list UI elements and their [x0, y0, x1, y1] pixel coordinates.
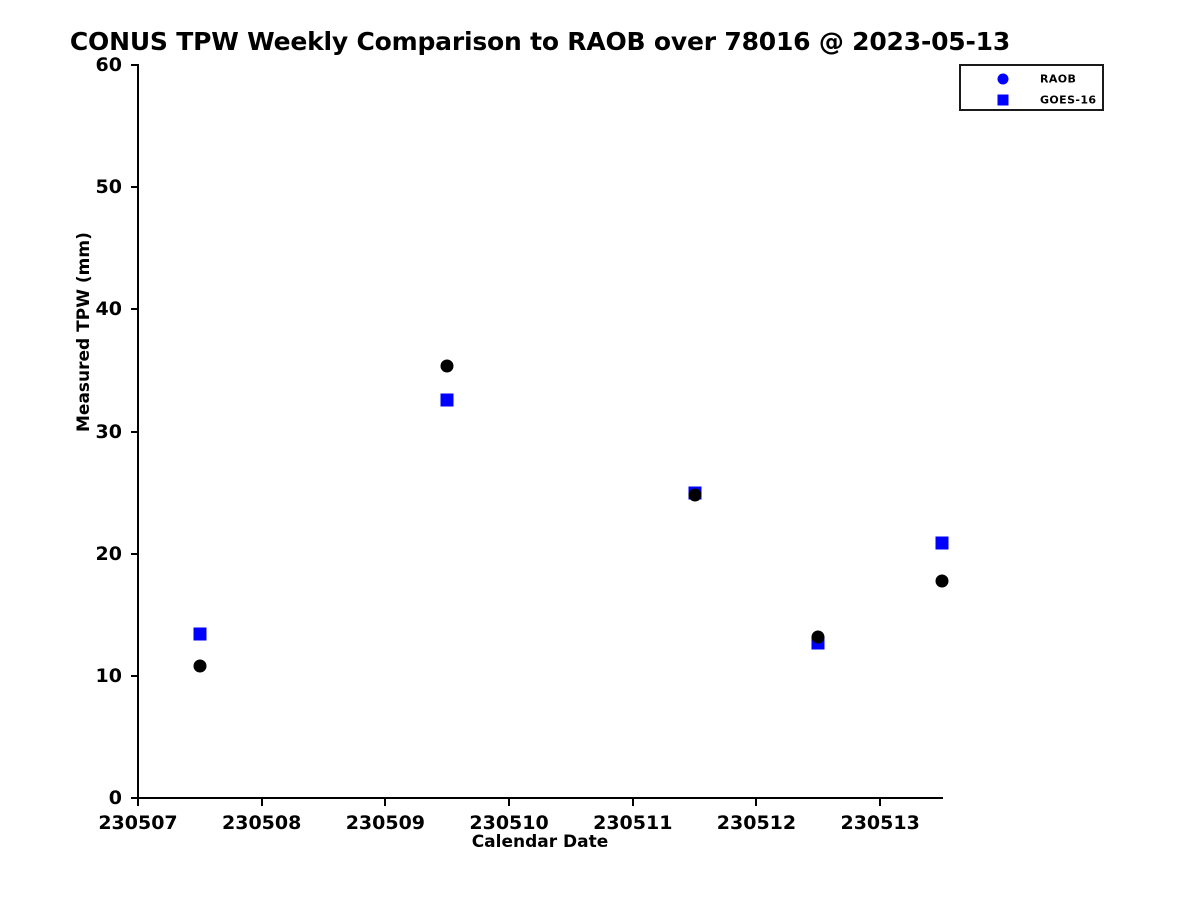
x-tick-label: 230511: [593, 812, 672, 834]
chart-figure: CONUS TPW Weekly Comparison to RAOB over…: [0, 0, 1200, 900]
legend-square-icon: [998, 94, 1009, 105]
x-tick-label: 230513: [840, 812, 919, 834]
y-tick-mark: [131, 64, 138, 66]
x-tick-label: 230510: [469, 812, 548, 834]
y-tick-label: 40: [18, 298, 122, 320]
y-tick-mark: [131, 186, 138, 188]
y-tick-label: 10: [18, 665, 122, 687]
data-point-goes-16: [936, 536, 949, 549]
y-tick-label: 30: [18, 421, 122, 443]
y-tick-mark: [131, 308, 138, 310]
x-axis-label: Calendar Date: [138, 832, 942, 852]
y-tick-mark: [131, 675, 138, 677]
data-point-raob: [193, 660, 206, 673]
data-point-goes-16: [441, 393, 454, 406]
y-tick-label: 20: [18, 543, 122, 565]
data-point-raob: [936, 574, 949, 587]
x-tick-mark: [261, 798, 263, 806]
legend-circle-icon: [998, 73, 1009, 84]
x-tick-label: 230512: [717, 812, 796, 834]
x-tick-mark: [632, 798, 634, 806]
y-tick-label: 50: [18, 176, 122, 198]
y-tick-mark: [131, 431, 138, 433]
x-tick-mark: [755, 798, 757, 806]
legend-label: RAOB: [1040, 72, 1076, 85]
y-tick-mark: [131, 553, 138, 555]
legend-item-goes-16[interactable]: GOES-16: [961, 89, 1102, 110]
page-title: CONUS TPW Weekly Comparison to RAOB over…: [0, 27, 1080, 56]
data-point-raob: [688, 489, 701, 502]
y-tick-label: 0: [18, 787, 122, 809]
legend-label: GOES-16: [1040, 93, 1097, 106]
x-tick-label: 230509: [346, 812, 425, 834]
y-tick-label: 60: [18, 54, 122, 76]
legend-item-raob[interactable]: RAOB: [961, 68, 1102, 89]
x-tick-label: 230507: [98, 812, 177, 834]
data-point-raob: [812, 630, 825, 643]
x-tick-mark: [137, 798, 139, 806]
x-tick-mark: [879, 798, 881, 806]
plot-area: 0102030405060 23050723050823050923051023…: [138, 65, 942, 798]
data-point-goes-16: [193, 628, 206, 641]
x-tick-mark: [384, 798, 386, 806]
data-point-raob: [441, 359, 454, 372]
x-tick-mark: [508, 798, 510, 806]
chart-legend: RAOBGOES-16: [959, 64, 1104, 111]
y-axis-label: Measured TPW (mm): [74, 232, 94, 432]
x-tick-label: 230508: [222, 812, 301, 834]
